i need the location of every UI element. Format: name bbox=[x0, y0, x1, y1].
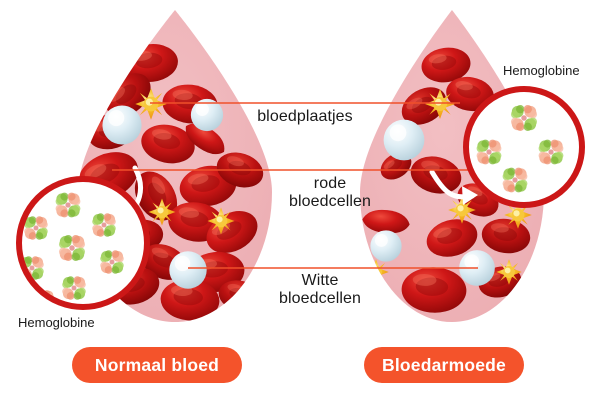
platelet bbox=[149, 199, 176, 226]
hemoglobine-caption-right: Hemoglobine bbox=[503, 63, 580, 78]
platelet bbox=[425, 89, 455, 119]
wbc bbox=[169, 251, 206, 288]
label-bloedplaatjes: bloedplaatjes bbox=[235, 108, 375, 126]
label-witte-bloedcellen: Witte bloedcellen bbox=[245, 272, 395, 308]
button-normaal-bloed[interactable]: Normaal bloed bbox=[72, 347, 242, 383]
label-rode-bloedcellen: rode bloedcellen bbox=[270, 175, 390, 211]
platelet bbox=[496, 259, 522, 285]
infographic-canvas: bloedplaatjes rode bloedcellen Witte blo… bbox=[0, 0, 600, 400]
button-bloedarmoede-label: Bloedarmoede bbox=[382, 355, 506, 376]
magnifier-right bbox=[466, 89, 582, 205]
wbc bbox=[384, 120, 425, 161]
button-bloedarmoede[interactable]: Bloedarmoede bbox=[364, 347, 524, 383]
hemoglobine-caption-left: Hemoglobine bbox=[18, 315, 95, 330]
platelet bbox=[208, 208, 235, 235]
platelet bbox=[135, 88, 167, 120]
wbc bbox=[370, 230, 401, 261]
magnifier-left bbox=[19, 179, 147, 310]
button-normaal-bloed-label: Normaal bloed bbox=[95, 355, 219, 376]
platelet bbox=[448, 196, 476, 224]
wbc bbox=[102, 105, 141, 144]
